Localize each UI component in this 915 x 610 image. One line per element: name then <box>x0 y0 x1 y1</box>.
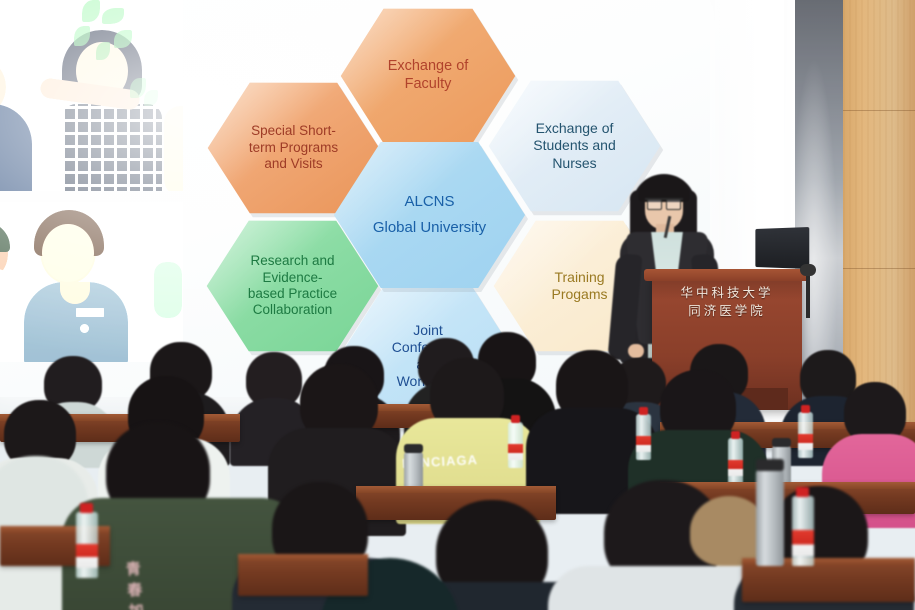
center-hex-line1: ALCNS <box>373 193 486 211</box>
presentation-photo-scene: Exchange of Faculty Special Short- term … <box>0 0 915 610</box>
podium-line-1: 华中科技大学 <box>652 284 802 302</box>
microphone-stand <box>806 272 810 318</box>
eyeglasses-icon <box>645 198 683 208</box>
hex-label: Exchange of Students and Nurses <box>533 120 616 171</box>
microphone-head-icon <box>800 264 816 276</box>
desk-row <box>238 554 368 596</box>
hex-label: Exchange of Faculty <box>388 58 469 93</box>
water-bottle <box>636 414 651 460</box>
hex-label: Research and Evidence- based Practice Co… <box>248 253 337 319</box>
hex-label: Special Short- term Programs and Visits <box>249 123 338 172</box>
laptop <box>755 227 809 269</box>
center-hex-line2: Global University <box>373 219 486 237</box>
water-bottle <box>76 512 98 578</box>
water-bottle <box>728 438 743 484</box>
podium-line-2: 同济医学院 <box>652 302 802 320</box>
audience-area: LENCIAGA 青春加油 <box>0 330 915 610</box>
water-bottle <box>508 422 523 468</box>
thermos-flask <box>756 470 784 566</box>
water-bottle <box>798 412 813 458</box>
water-bottle <box>792 496 814 566</box>
slide-photo-students <box>0 0 183 191</box>
podium-inscription: 华中科技大学 同济医学院 <box>652 284 802 320</box>
hex-label: Training Progams <box>551 269 607 303</box>
